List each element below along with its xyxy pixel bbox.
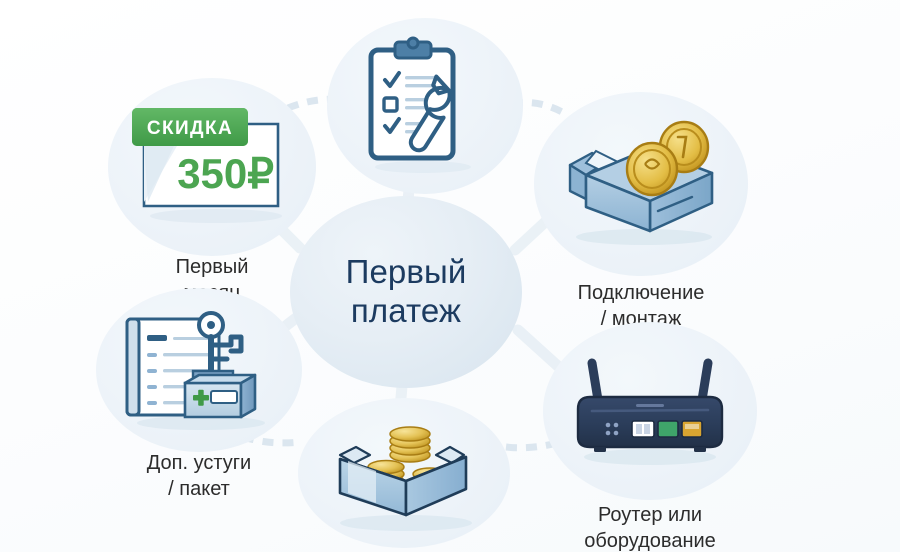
caption-line-1: Доп. устуги: [147, 450, 251, 476]
node-disc: [543, 322, 757, 500]
discount-badge-label: СКИДКА: [147, 118, 233, 139]
node-disc: [327, 18, 523, 194]
wifi-router-icon: [558, 351, 742, 471]
document-key-kit-icon: [115, 307, 283, 433]
node-disc: [96, 288, 302, 452]
discount-card-icon: СКИДКА 350₽: [126, 106, 298, 228]
node-first-month[interactable]: СКИДКА 350₽ Первый месяц: [88, 78, 336, 306]
node-router-equipment[interactable]: Роутер или оборудование: [532, 322, 768, 552]
node-disc: [534, 92, 748, 276]
node-extra-services[interactable]: Доп. устуги / пакет: [82, 288, 316, 502]
caption-line-1: Подключение: [578, 280, 705, 306]
caption-line-2: / пакет: [147, 476, 251, 502]
node-connection-installation[interactable]: Подключение / монтаж: [522, 92, 760, 332]
node-service-checklist[interactable]: [318, 18, 532, 194]
discount-amount: 350₽: [177, 150, 274, 197]
port-group: [632, 421, 702, 437]
clipboard-wrench-icon: [357, 36, 493, 176]
caption-line-2: оборудование: [584, 528, 716, 552]
node-disc: СКИДКА 350₽: [108, 78, 316, 256]
node-caption: Доп. устуги / пакет: [147, 450, 251, 502]
node-caption: Роутер или оборудование: [584, 502, 716, 552]
hub-title-line1: Первый: [346, 253, 467, 292]
node-carton-box[interactable]: [290, 398, 518, 548]
caption-line-1: Роутер или: [584, 502, 716, 528]
open-box-coins-icon: [552, 119, 730, 249]
carton-box-coins-icon: [314, 411, 494, 535]
caption-line-1: Первый: [176, 254, 249, 280]
node-disc: [298, 398, 510, 548]
hub-title-line2: платеж: [351, 292, 461, 331]
infographic-canvas: Первый платеж: [0, 0, 900, 552]
